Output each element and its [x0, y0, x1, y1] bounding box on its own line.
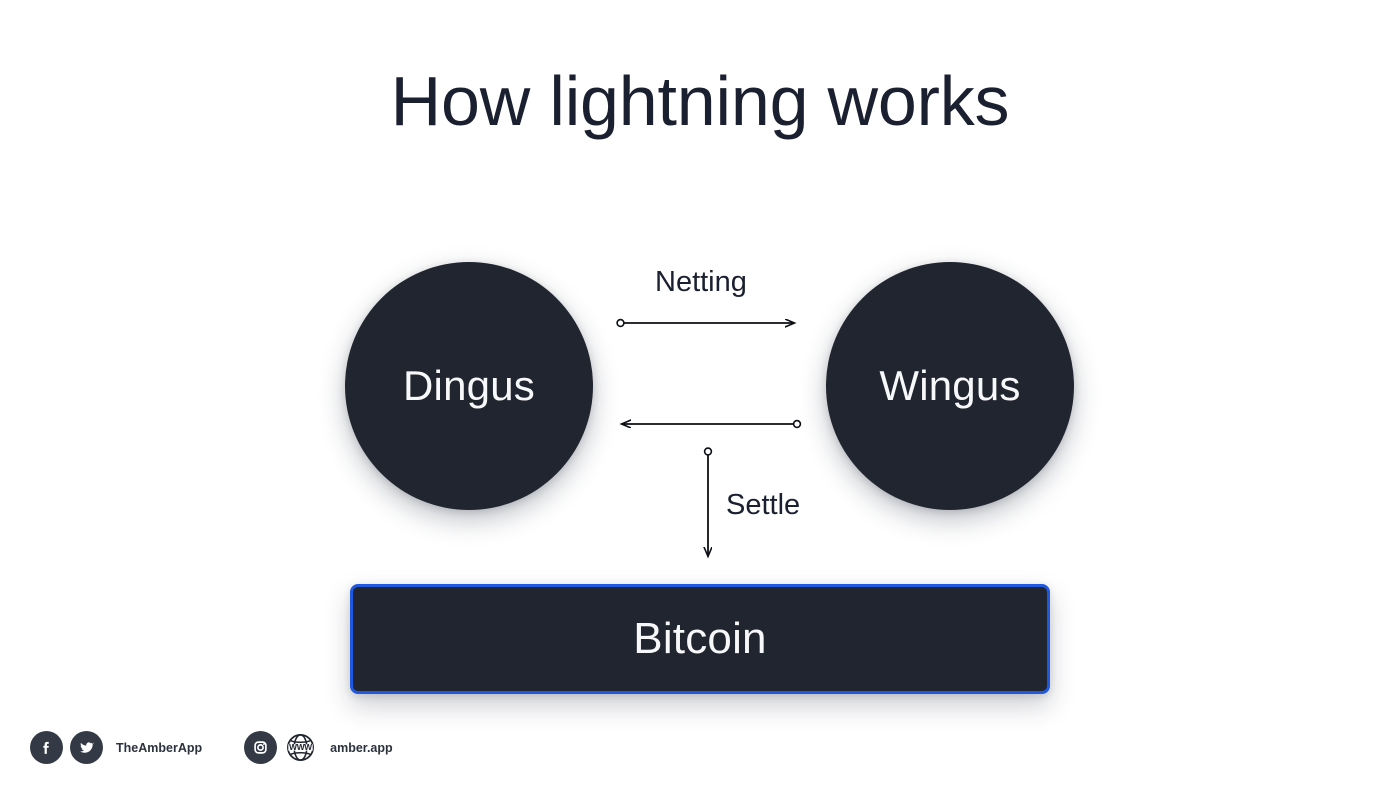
facebook-icon[interactable] [30, 731, 63, 764]
node-bitcoin-label: Bitcoin [633, 614, 766, 664]
instagram-icon[interactable] [244, 731, 277, 764]
footer: TheAmberApp WWW [30, 731, 393, 764]
footer-social-group: TheAmberApp [30, 731, 202, 764]
slide-canvas: How lightning works Netting Settle Dingu… [0, 0, 1400, 788]
svg-text:WWW: WWW [289, 742, 312, 752]
footer-web-group: WWW amber.app [244, 731, 393, 764]
edge-netting-forward [617, 320, 794, 327]
globe-www-icon[interactable]: WWW [284, 731, 317, 764]
edge-settle [705, 448, 712, 556]
footer-social-handle[interactable]: TheAmberApp [116, 741, 202, 755]
footer-web-handle[interactable]: amber.app [330, 741, 393, 755]
edge-label-netting: Netting [655, 266, 747, 299]
twitter-icon[interactable] [70, 731, 103, 764]
node-wingus-label: Wingus [879, 362, 1020, 410]
node-dingus[interactable]: Dingus [345, 262, 593, 510]
edge-label-settle: Settle [726, 489, 800, 522]
node-wingus[interactable]: Wingus [826, 262, 1074, 510]
node-dingus-label: Dingus [403, 362, 535, 410]
page-title: How lightning works [0, 66, 1400, 136]
node-bitcoin[interactable]: Bitcoin [350, 584, 1050, 694]
edge-netting-reverse [622, 421, 800, 428]
